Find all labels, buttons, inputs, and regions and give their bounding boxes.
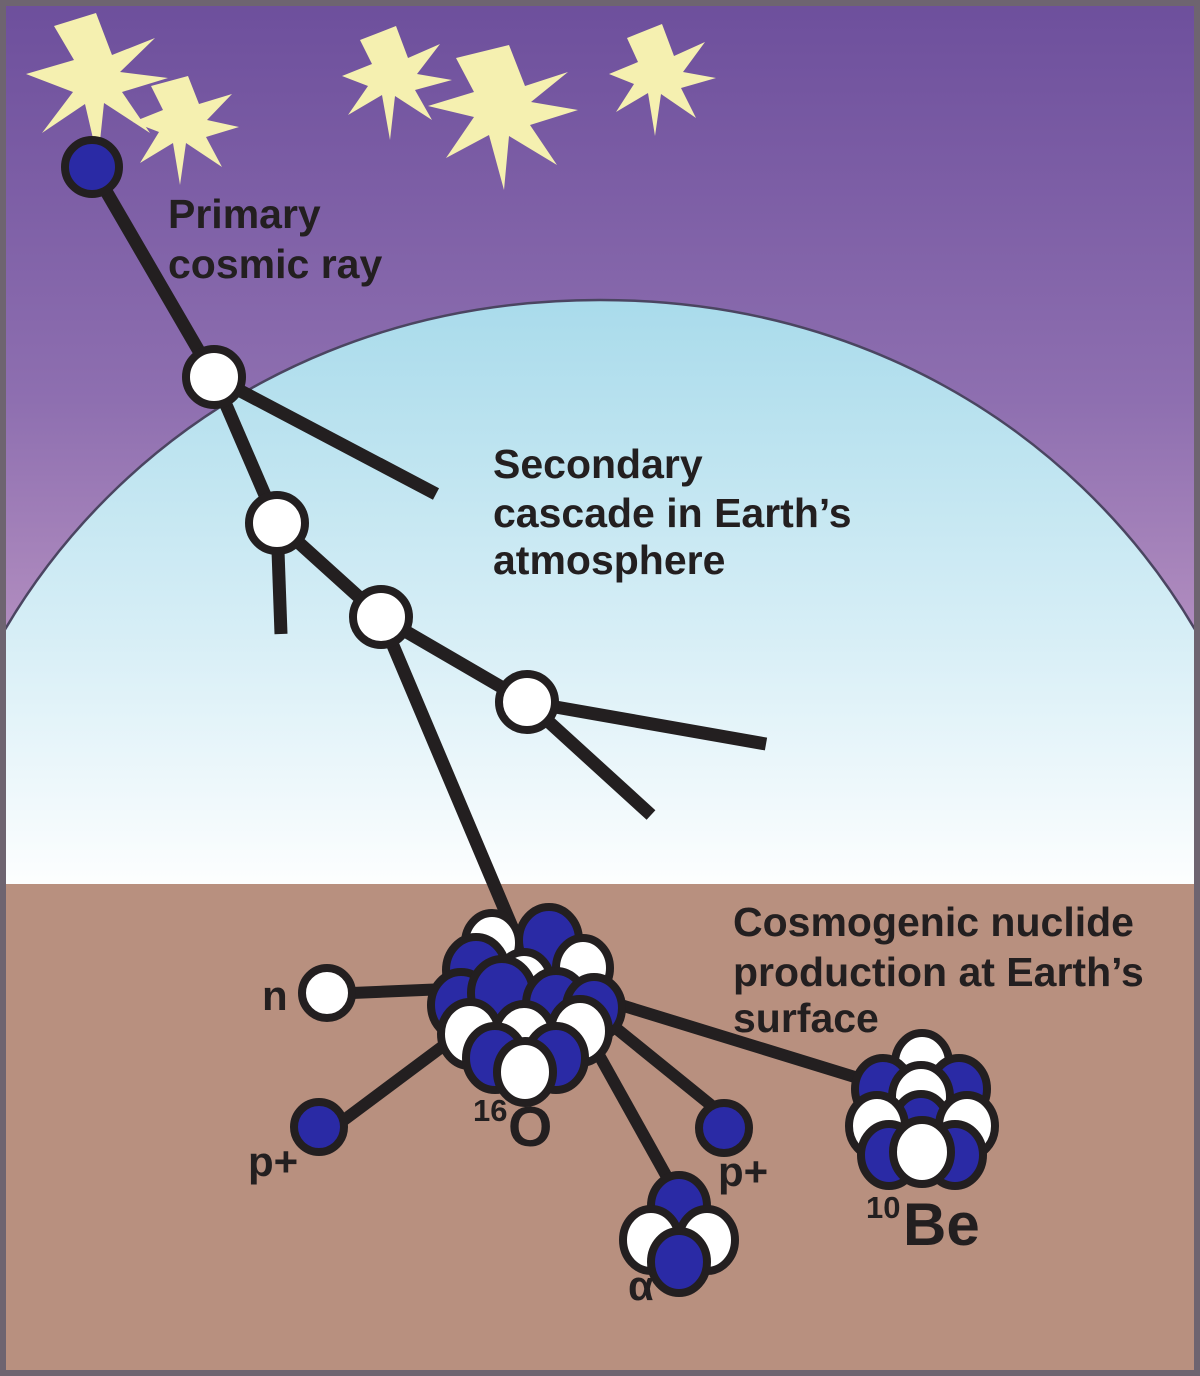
- neutron-icon: [499, 674, 555, 730]
- emitted-proton-left: [294, 1102, 344, 1152]
- cosmogenic-production-label-line2: production at Earth’s: [733, 949, 1144, 995]
- oxygen-mass-number: 16: [473, 1093, 507, 1128]
- proton-left-label: p+: [248, 1138, 298, 1185]
- neutron-icon: [353, 589, 409, 645]
- primary-cosmic-ray-label-line2: cosmic ray: [168, 241, 382, 287]
- neutron-icon: [302, 968, 352, 1018]
- neutron-label: n: [262, 972, 288, 1019]
- secondary-cascade-label-line2: cascade in Earth’s: [493, 490, 852, 536]
- cosmogenic-production-label-line3: surface: [733, 995, 879, 1041]
- proton-icon: [651, 1231, 707, 1293]
- proton-icon: [294, 1102, 344, 1152]
- secondary-cascade-label-line3: atmosphere: [493, 537, 725, 583]
- secondary-cascade-label-line1: Secondary: [493, 441, 703, 487]
- proton-right-label: p+: [718, 1148, 768, 1195]
- beryllium-symbol: Be: [903, 1191, 980, 1258]
- emitted-neutron: [302, 968, 352, 1018]
- cosmic-ray-diagram: Primary cosmic ray Secondary cascade in …: [0, 0, 1200, 1376]
- proton-icon: [699, 1103, 749, 1153]
- neutron-icon: [893, 1120, 951, 1184]
- emitted-proton-right: [699, 1103, 749, 1153]
- oxygen-symbol: O: [508, 1095, 552, 1159]
- neutron-icon: [186, 349, 242, 405]
- diagram-canvas: Primary cosmic ray Secondary cascade in …: [0, 0, 1200, 1376]
- cosmogenic-production-label-line1: Cosmogenic nuclide: [733, 899, 1134, 945]
- beryllium-mass-number: 10: [866, 1190, 900, 1225]
- primary-cosmic-ray-particle: [65, 140, 119, 194]
- primary-cosmic-ray-label-line1: Primary: [168, 191, 321, 237]
- neutron-icon: [249, 495, 305, 551]
- proton-icon: [65, 140, 119, 194]
- alpha-label: α: [628, 1262, 654, 1309]
